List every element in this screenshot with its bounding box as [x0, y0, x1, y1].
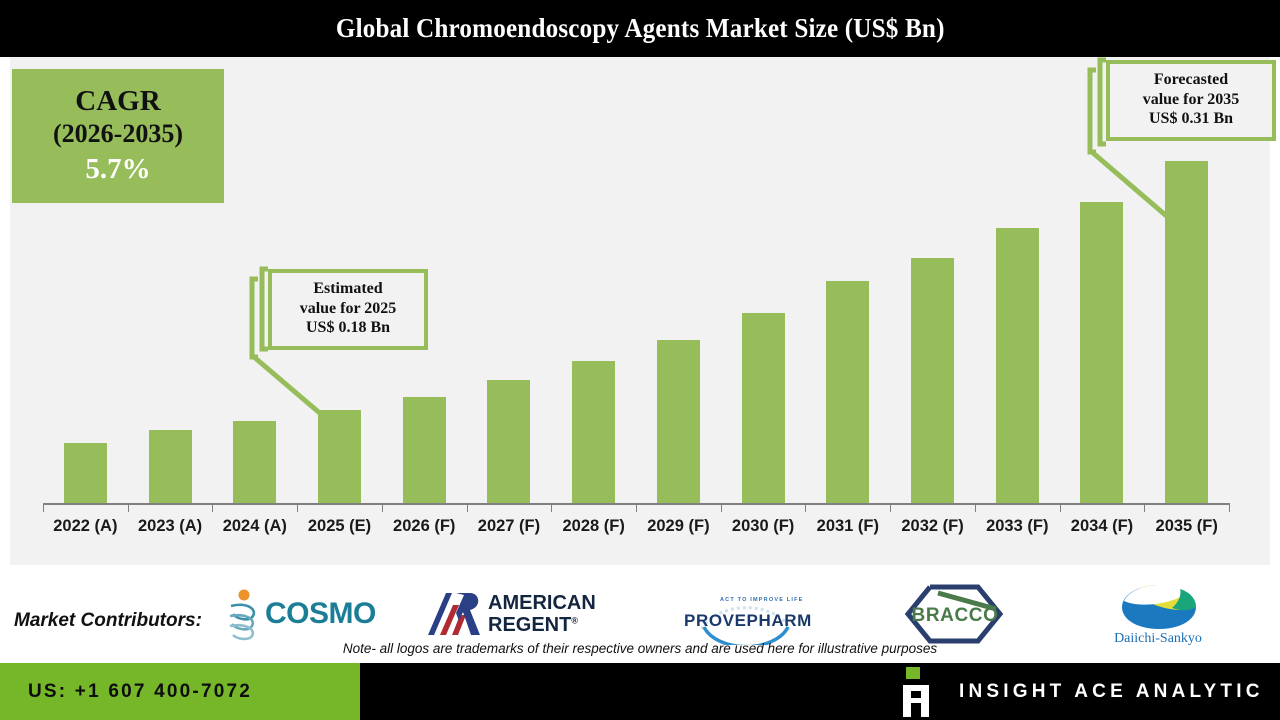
footer-phone: US: +1 607 400-7072 [28, 681, 252, 703]
bar-2022 [64, 443, 107, 503]
x-axis-label-2025: 2025 (E) [297, 517, 382, 547]
x-axis-label-2033: 2033 (F) [975, 517, 1060, 547]
bar-2030 [742, 313, 785, 503]
x-axis-label-2034: 2034 (F) [1060, 517, 1145, 547]
x-axis-label-2030: 2030 (F) [721, 517, 806, 547]
x-axis-label-2023: 2023 (A) [128, 517, 213, 547]
bar-2028 [572, 361, 615, 503]
x-axis-label-2026: 2026 (F) [382, 517, 467, 547]
logo-daiichi-sankyo: Daiichi-Sankyo [1118, 583, 1200, 645]
cosmo-mark-icon [225, 589, 263, 641]
bar-2023 [149, 430, 192, 503]
x-axis-tick [212, 503, 213, 512]
bar-2027 [487, 380, 530, 503]
logo-disclaimer-note: Note- all logos are trademarks of their … [343, 641, 937, 656]
x-axis-tick [721, 503, 722, 512]
x-axis-tick [43, 503, 44, 512]
bar-series [10, 57, 1270, 565]
insightace-a-icon [899, 677, 933, 717]
bar-2026 [403, 397, 446, 503]
x-axis-label-2035: 2035 (F) [1144, 517, 1229, 547]
american-regent-wordmark: AMERICAN REGENT® [488, 593, 596, 636]
contributors-label: Market Contributors: [14, 610, 202, 632]
title-bar: Global Chromoendoscopy Agents Market Siz… [0, 0, 1280, 57]
x-axis-label-2031: 2031 (F) [805, 517, 890, 547]
x-axis-label-2032: 2032 (F) [890, 517, 975, 547]
bar-2035 [1165, 161, 1208, 503]
x-axis-tick [297, 503, 298, 512]
logo-provepharm: ACT TO IMPROVE LIFE PROVEPHARM [676, 583, 826, 645]
bar-2024 [233, 421, 276, 503]
footer-contact-block: US: +1 607 400-7072 [0, 663, 360, 720]
page-title: Global Chromoendoscopy Agents Market Siz… [336, 13, 945, 44]
logo-cosmo: COSMO [225, 583, 390, 645]
x-axis-labels: 2022 (A)2023 (A)2024 (A)2025 (E)2026 (F)… [43, 517, 1229, 547]
x-axis-tick [128, 503, 129, 512]
daiichi-sankyo-wordmark: Daiichi-Sankyo [1102, 631, 1214, 647]
x-axis-tick [1144, 503, 1145, 512]
cosmo-wordmark: COSMO [265, 597, 376, 631]
x-axis-label-2028: 2028 (F) [551, 517, 636, 547]
x-axis-tick [551, 503, 552, 512]
x-axis-tick [805, 503, 806, 512]
american-regent-line1: AMERICAN [488, 593, 596, 615]
x-axis-label-2029: 2029 (F) [636, 517, 721, 547]
registered-icon: ® [571, 615, 578, 625]
chart-panel: CAGR (2026-2035) 5.7% Estimated value fo… [10, 57, 1270, 565]
bar-2032 [911, 258, 954, 503]
footer-bar: US: +1 607 400-7072 INSIGHT ACE ANALYTIC [0, 663, 1280, 720]
x-axis-tick [467, 503, 468, 512]
bar-2033 [996, 228, 1039, 503]
x-axis-tick [890, 503, 891, 512]
bracco-wordmark: BRACCO [900, 605, 1010, 627]
x-axis-tick [382, 503, 383, 512]
logo-american-regent: AMERICAN REGENT® [426, 583, 606, 645]
bar-2025 [318, 410, 361, 503]
footer-brand-text: INSIGHT ACE ANALYTIC [959, 681, 1264, 703]
x-axis-tick [1229, 503, 1230, 512]
american-regent-line2: REGENT [488, 614, 571, 636]
american-regent-mark-icon [426, 593, 482, 635]
provepharm-tagline: ACT TO IMPROVE LIFE [720, 597, 804, 603]
x-axis-tick [1060, 503, 1061, 512]
insightace-logo-icon [895, 667, 935, 717]
provepharm-wordmark: PROVEPHARM [684, 611, 812, 631]
bar-2029 [657, 340, 700, 503]
x-axis-label-2024: 2024 (A) [212, 517, 297, 547]
x-axis-label-2027: 2027 (F) [467, 517, 552, 547]
x-axis-label-2022: 2022 (A) [43, 517, 128, 547]
logo-bracco: BRACCO [900, 583, 1010, 645]
daiichi-sankyo-mark-icon [1120, 583, 1198, 631]
bar-2031 [826, 281, 869, 503]
x-axis-tick [975, 503, 976, 512]
footer-brand: INSIGHT ACE ANALYTIC [895, 663, 1264, 720]
bar-2034 [1080, 202, 1123, 503]
x-axis-tick [636, 503, 637, 512]
